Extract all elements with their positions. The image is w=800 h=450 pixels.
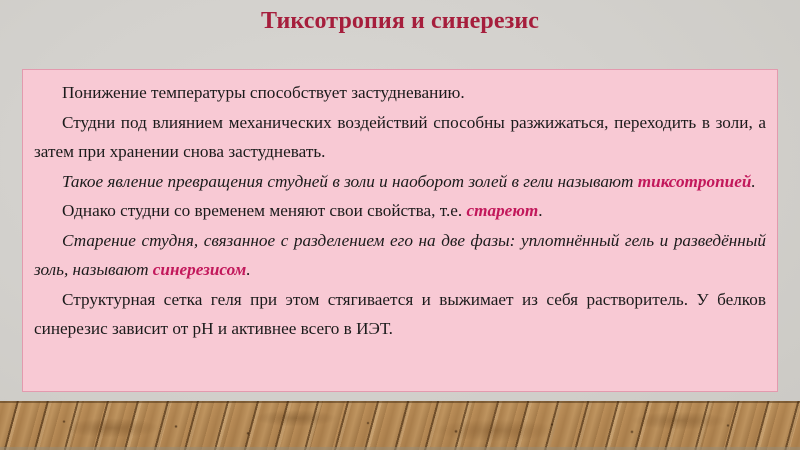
paragraph: Однако студни со временем меняют свои св… bbox=[34, 196, 766, 226]
text-run: Старение студня, связанное с разделением… bbox=[34, 231, 766, 280]
content-text-box[interactable]: Понижение температуры способствует засту… bbox=[22, 69, 778, 392]
floor-grain-texture bbox=[0, 401, 800, 450]
floor-top-edge bbox=[0, 401, 800, 403]
highlighted-term: стареют bbox=[467, 201, 539, 220]
wooden-floor-decoration bbox=[0, 401, 800, 450]
paragraph-list: Понижение температуры способствует засту… bbox=[34, 78, 766, 344]
paragraph: Понижение температуры способствует засту… bbox=[34, 78, 766, 108]
text-run: Понижение температуры способствует засту… bbox=[62, 83, 465, 102]
highlighted-term: тиксотропией bbox=[638, 172, 752, 191]
text-run: . bbox=[538, 201, 542, 220]
paragraph: Такое явление превращения студней в золи… bbox=[34, 167, 766, 197]
slide-canvas: Тиксотропия и синерезис Понижение темпер… bbox=[0, 0, 800, 450]
text-run: Однако студни со временем меняют свои св… bbox=[62, 201, 467, 220]
paragraph: Старение студня, связанное с разделением… bbox=[34, 226, 766, 285]
paragraph: Структурная сетка геля при этом стягивае… bbox=[34, 285, 766, 344]
paragraph: Студни под влиянием механических воздейс… bbox=[34, 108, 766, 167]
text-run: Такое явление превращения студней в золи… bbox=[62, 172, 638, 191]
highlighted-term: синерезисом bbox=[153, 260, 247, 279]
page-title: Тиксотропия и синерезис bbox=[0, 6, 800, 36]
text-run: Студни под влиянием механических воздейс… bbox=[34, 113, 766, 162]
text-run: . bbox=[246, 260, 250, 279]
text-run: . bbox=[751, 172, 755, 191]
text-run: Структурная сетка геля при этом стягивае… bbox=[34, 290, 766, 339]
